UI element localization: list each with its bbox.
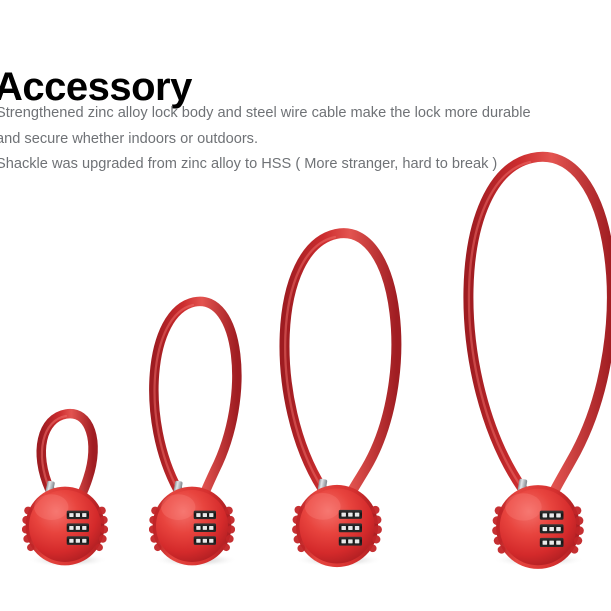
lock-body <box>149 487 235 566</box>
lock-size-1 <box>22 414 108 567</box>
product-feature-page: Accessory Strengthened zinc alloy lock b… <box>0 0 611 611</box>
lock-size-2 <box>149 301 238 567</box>
cable-loop <box>284 233 396 500</box>
lock-size-3 <box>284 233 396 567</box>
lock-body <box>22 487 108 566</box>
lock-size-4 <box>468 157 611 569</box>
cable-loop <box>468 157 611 500</box>
product-photo-group <box>0 0 611 611</box>
lock-body <box>292 485 382 567</box>
